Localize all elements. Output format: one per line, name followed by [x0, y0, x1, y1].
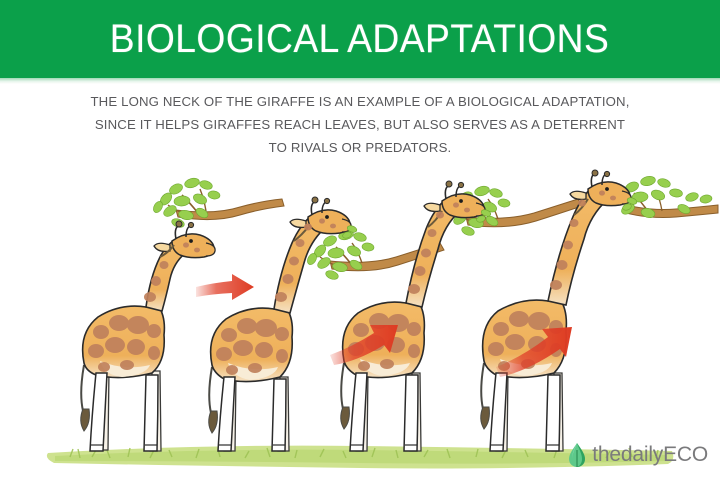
brand-logo[interactable]: thedailyECO: [566, 442, 708, 468]
infographic-page: BIOLOGICAL ADAPTATIONS THE LONG NECK OF …: [0, 0, 720, 480]
arrow-1: [196, 274, 254, 300]
banner-underline: [0, 78, 720, 84]
page-title: BIOLOGICAL ADAPTATIONS: [110, 17, 609, 62]
leaf-icon: [566, 442, 588, 468]
subtitle-text: THE LONG NECK OF THE GIRAFFE IS AN EXAMP…: [90, 90, 630, 159]
logo-text: thedailyECO: [592, 443, 708, 467]
giraffe-illustration: [0, 165, 720, 480]
giraffe-2: [209, 197, 358, 451]
header-banner: BIOLOGICAL ADAPTATIONS: [0, 0, 720, 78]
giraffe-1: [81, 221, 215, 451]
branch-1: [152, 177, 284, 229]
